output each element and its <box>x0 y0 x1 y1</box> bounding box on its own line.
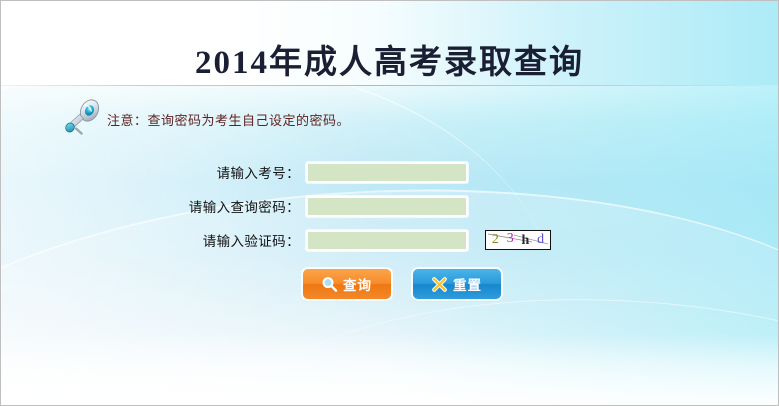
action-buttons: 查询 重置 <box>1 269 779 299</box>
header-divider <box>1 85 778 86</box>
field-row-captcha: 请输入验证码： 2 3 h d <box>1 223 779 257</box>
captcha-char-2: h <box>521 234 529 248</box>
query-button-label: 查询 <box>343 274 372 294</box>
background-bottom-fade <box>1 333 778 405</box>
query-password-input[interactable] <box>306 196 468 217</box>
notice-bar: 注意：查询密码为考生自己设定的密码。 <box>59 98 350 140</box>
reset-button[interactable]: 重置 <box>413 269 501 299</box>
captcha-input[interactable] <box>306 230 468 251</box>
query-button[interactable]: 查询 <box>303 269 391 299</box>
notice-text: 注意：查询密码为考生自己设定的密码。 <box>107 110 350 129</box>
label-query-password: 请输入查询密码： <box>1 196 306 216</box>
page-title: 2014年成人高考录取查询 <box>1 35 778 83</box>
captcha-char-0: 2 <box>492 233 499 247</box>
query-form: 请输入考号： 请输入查询密码： 请输入验证码： 2 3 h d <box>1 155 779 257</box>
x-mark-icon <box>431 276 448 293</box>
megaphone-icon <box>59 98 103 140</box>
captcha-image[interactable]: 2 3 h d <box>485 230 551 250</box>
magnifier-icon <box>321 276 338 293</box>
label-captcha: 请输入验证码： <box>1 230 306 250</box>
exam-number-input[interactable] <box>306 162 468 183</box>
captcha-char-1: 3 <box>507 232 514 246</box>
label-exam-number: 请输入考号： <box>1 162 306 182</box>
reset-button-label: 重置 <box>453 274 482 294</box>
field-row-exam-number: 请输入考号： <box>1 155 779 189</box>
query-page: 2014年成人高考录取查询 <box>0 0 779 406</box>
field-row-query-password: 请输入查询密码： <box>1 189 779 223</box>
captcha-char-3: d <box>537 233 544 247</box>
captcha-wrapper[interactable]: 2 3 h d <box>485 230 551 250</box>
